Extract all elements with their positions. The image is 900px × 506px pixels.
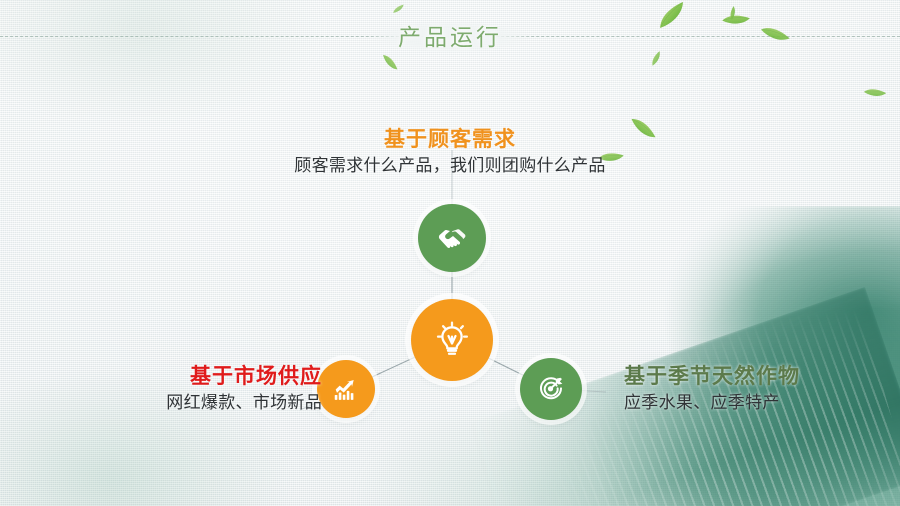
- block-left-body: 网红爆款、市场新品: [22, 390, 322, 415]
- block-left-heading: 基于市场供应: [22, 363, 322, 390]
- block-top-heading: 基于顾客需求: [0, 126, 900, 153]
- watercolor-wash-bottom-center: [330, 416, 750, 506]
- node-top-handshake[interactable]: [418, 204, 486, 272]
- node-right-target[interactable]: [520, 358, 582, 420]
- text-block-market-supply: 基于市场供应 网红爆款、市场新品: [22, 363, 322, 415]
- watercolor-brush-bottom-right: [500, 206, 900, 506]
- leaf-icon: [391, 4, 405, 13]
- node-center-lightbulb[interactable]: [411, 299, 493, 381]
- leaf-icon: [863, 84, 887, 102]
- block-right-body: 应季水果、应季特产: [624, 390, 900, 415]
- lightbulb-icon: [431, 319, 473, 361]
- text-block-seasonal-crops: 基于季节天然作物 应季水果、应季特产: [624, 363, 900, 415]
- slide-canvas: 产品运行: [0, 0, 900, 506]
- leaf-icon: [727, 5, 739, 20]
- page-title: 产品运行: [0, 21, 900, 53]
- block-top-body: 顾客需求什么产品，我们则团购什么产品: [0, 153, 900, 178]
- block-right-heading: 基于季节天然作物: [624, 363, 900, 390]
- growth-chart-icon: [331, 374, 361, 404]
- target-icon: [536, 374, 566, 404]
- text-block-customer-demand: 基于顾客需求 顾客需求什么产品，我们则团购什么产品: [0, 126, 900, 178]
- watercolor-wash-top-left: [0, 0, 330, 120]
- node-left-growth-chart[interactable]: [317, 360, 375, 418]
- handshake-icon: [435, 221, 469, 255]
- leaf-icon: [382, 51, 398, 73]
